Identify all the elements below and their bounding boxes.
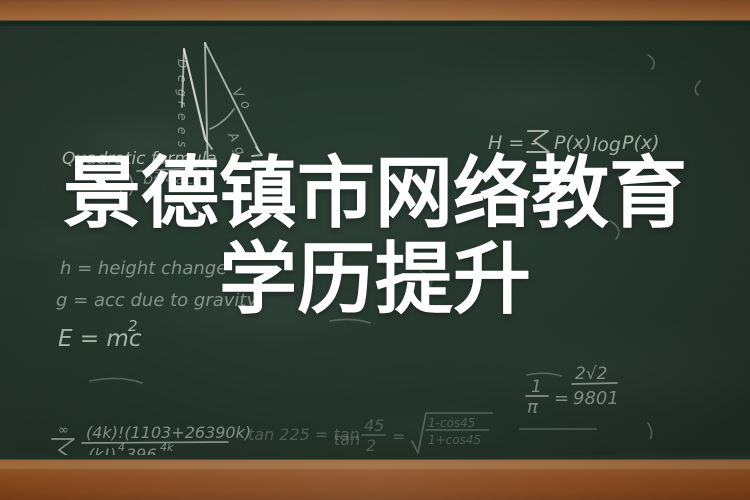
svg-text:2√2: 2√2 <box>575 364 607 384</box>
chalkboard-banner: .ch { fill:none; stroke:#d9e2da; stroke-… <box>0 0 750 500</box>
svg-text:2: 2 <box>366 436 376 455</box>
svg-text:4: 4 <box>118 441 125 454</box>
svg-text:45: 45 <box>364 416 384 435</box>
svg-text:4k: 4k <box>160 441 174 454</box>
svg-text:=: = <box>554 388 569 409</box>
svg-text:1+cos45: 1+cos45 <box>428 433 481 447</box>
svg-text:1: 1 <box>531 377 542 397</box>
svg-text:E = mc: E = mc <box>58 326 142 352</box>
svg-text:tan 225 = tan: tan 225 = tan <box>248 425 360 444</box>
svg-text:g: g <box>175 89 189 97</box>
svg-text:π: π <box>527 397 539 418</box>
svg-text:=: = <box>392 427 405 446</box>
svg-text:D: D <box>175 59 189 68</box>
svg-text:e: e <box>175 127 189 134</box>
svg-text:A: A <box>224 129 242 145</box>
svg-text:9801: 9801 <box>573 388 619 409</box>
headline-line-1: 景德镇市网络教育 <box>0 150 750 236</box>
svg-text:tan: tan <box>334 430 360 449</box>
svg-text:V: V <box>228 86 246 102</box>
svg-text:(4k)!(1103+26390k): (4k)!(1103+26390k) <box>86 423 251 442</box>
svg-text:1-cos45: 1-cos45 <box>428 416 475 430</box>
half-angle-note: tan 45 2 = 1-cos45 1+cos45 <box>334 413 492 455</box>
svg-text:r: r <box>175 101 189 107</box>
svg-text:e: e <box>175 113 189 120</box>
svg-text:o: o <box>236 98 253 112</box>
pi-series-note: 1 π = 2√2 9801 <box>526 364 619 418</box>
headline-line-2: 学历提升 <box>0 236 750 322</box>
mass-energy-note: E = mc 2 <box>58 317 142 352</box>
svg-text:∞: ∞ <box>58 423 69 438</box>
wooden-frame-bottom <box>0 455 750 500</box>
svg-text:s: s <box>175 141 189 147</box>
headline-block: 景德镇市网络教育 学历提升 <box>0 150 750 322</box>
svg-text:e: e <box>175 75 189 82</box>
wooden-frame-top <box>0 0 750 26</box>
